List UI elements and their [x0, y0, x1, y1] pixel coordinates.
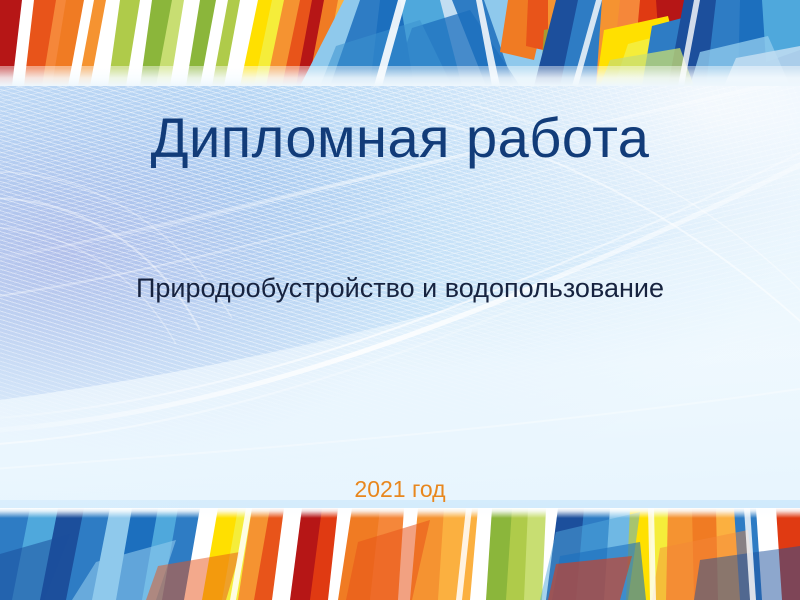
slide-year: 2021 год — [0, 476, 800, 504]
bottom-decorative-band — [0, 508, 800, 600]
top-decorative-band — [0, 0, 800, 86]
top-mosaic-graphic — [0, 0, 800, 86]
presentation-slide: Дипломная работа Природообустройство и в… — [0, 0, 800, 600]
slide-title: Дипломная работа — [0, 108, 800, 167]
bottom-mosaic-graphic — [0, 508, 800, 600]
slide-subtitle: Природообустройство и водопользование — [0, 272, 800, 304]
